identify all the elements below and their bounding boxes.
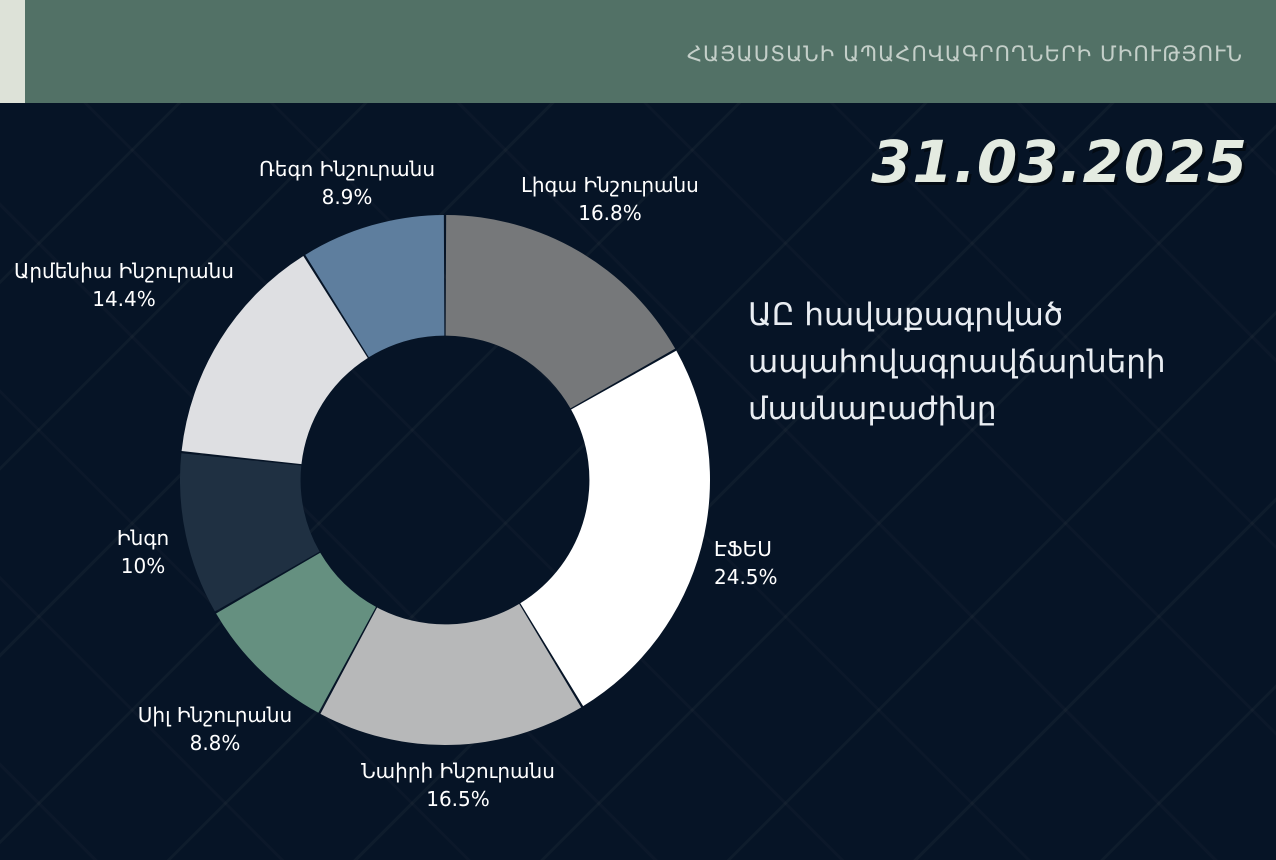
header-left-accent-strip bbox=[0, 0, 25, 103]
slice-label-ingo-name: Ինգո bbox=[88, 524, 198, 552]
donut-chart bbox=[180, 215, 710, 745]
slice-label-liga-value: 16.8% bbox=[510, 199, 710, 227]
slide-canvas: ՀԱՅԱՍՏԱՆԻ ԱՊԱՀՈՎԱԳՐՈՂՆԵՐԻ ՄԻՈՒԹՅՈՒՆ 31.0… bbox=[0, 0, 1276, 860]
slice-label-efes-name: ԷՖԵՍ bbox=[714, 535, 894, 563]
donut-chart-svg bbox=[180, 215, 710, 745]
slice-label-liga: Լիգա Ինշուրանս 16.8% bbox=[510, 171, 710, 227]
slice-label-nairi: Նաիրի Ինշուրանս 16.5% bbox=[348, 757, 568, 813]
donut-slice-group bbox=[180, 215, 710, 745]
chart-title: ԱԸ հավաքագրված ապահովագրավճարների մասնաբ… bbox=[748, 292, 1268, 433]
slice-label-efes-value: 24.5% bbox=[714, 563, 894, 591]
slice-label-armenia: Արմենիա Ինշուրանս 14.4% bbox=[8, 257, 240, 313]
slice-label-sil: Սիլ Ինշուրանս 8.8% bbox=[110, 701, 320, 757]
slice-label-efes: ԷՖԵՍ 24.5% bbox=[714, 535, 894, 591]
slice-label-ingo: Ինգո 10% bbox=[88, 524, 198, 580]
slice-label-sil-value: 8.8% bbox=[110, 729, 320, 757]
organization-name: ՀԱՅԱՍՏԱՆԻ ԱՊԱՀՈՎԱԳՐՈՂՆԵՐԻ ՄԻՈՒԹՅՈՒՆ bbox=[687, 42, 1243, 66]
header-bar: ՀԱՅԱՍՏԱՆԻ ԱՊԱՀՈՎԱԳՐՈՂՆԵՐԻ ՄԻՈՒԹՅՈՒՆ bbox=[0, 0, 1276, 103]
slice-label-armenia-value: 14.4% bbox=[8, 285, 240, 313]
donut-slice[interactable] bbox=[520, 351, 710, 706]
slice-label-rego-name: Ռեգո Ինշուրանս bbox=[247, 155, 447, 183]
slice-label-sil-name: Սիլ Ինշուրանս bbox=[110, 701, 320, 729]
slice-label-rego: Ռեգո Ինշուրանս 8.9% bbox=[247, 155, 447, 211]
slice-label-liga-name: Լիգա Ինշուրանս bbox=[510, 171, 710, 199]
slice-label-rego-value: 8.9% bbox=[247, 183, 447, 211]
slice-label-nairi-value: 16.5% bbox=[348, 785, 568, 813]
report-date: 31.03.2025 bbox=[871, 128, 1248, 196]
slice-label-ingo-value: 10% bbox=[88, 552, 198, 580]
slice-label-armenia-name: Արմենիա Ինշուրանս bbox=[8, 257, 240, 285]
slice-label-nairi-name: Նաիրի Ինշուրանս bbox=[348, 757, 568, 785]
